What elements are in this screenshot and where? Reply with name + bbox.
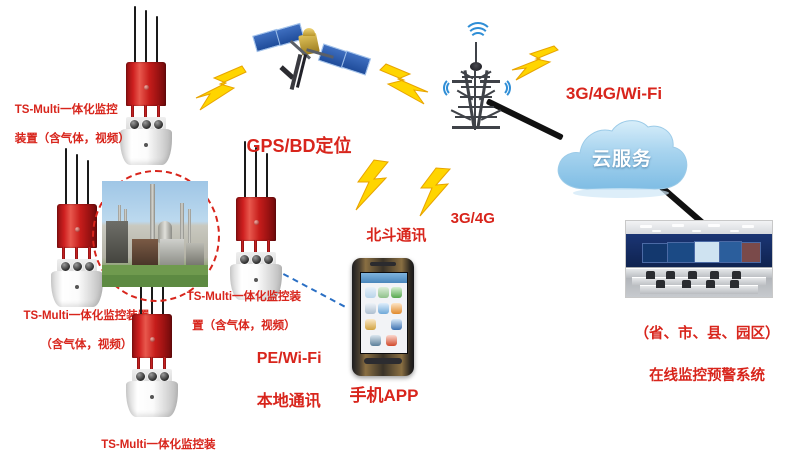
link-label-gps-bd: GPS/BD定位 [224, 112, 354, 180]
diagram-canvas: TS-Multi一体化监控 装置（含气体，视频） TS-Multi一体化监控装置… [0, 0, 797, 464]
device-cone-base [126, 381, 178, 417]
antenna-icon [134, 6, 136, 64]
app-icon[interactable] [378, 319, 389, 330]
antenna-icon [65, 148, 67, 206]
device-speaker [370, 262, 396, 266]
app-icon[interactable] [365, 303, 376, 314]
app-icon[interactable] [365, 319, 376, 330]
control-room-photo [625, 220, 773, 298]
device-body [132, 314, 172, 358]
device-body [236, 197, 276, 241]
handheld-screen[interactable] [360, 272, 408, 354]
device-indicator-dot [144, 143, 148, 147]
device-bottom-label: TS-Multi一体化监控装 置（含气体，视频） [72, 424, 232, 464]
link-label-pe-wifi: PE/Wi-Fi 本地通讯 [239, 326, 329, 434]
lightning-icon-satellite-tower [376, 62, 434, 106]
cell-tower-icon [440, 18, 512, 136]
device-indicator-dot [150, 395, 154, 399]
satellite-icon [248, 12, 382, 108]
app-icon[interactable] [365, 287, 376, 298]
antenna-icon [87, 160, 89, 206]
rugged-handheld-icon[interactable] [352, 258, 414, 376]
app-icon[interactable] [378, 287, 389, 298]
app-icon[interactable] [391, 319, 402, 330]
phone-app-label: 手机APP [346, 385, 422, 406]
signal-wave-icon [463, 22, 493, 52]
app-icon[interactable] [391, 287, 402, 298]
antenna-icon [76, 154, 78, 206]
link-label-3g4g: 3G/4G [434, 191, 498, 247]
lightning-icon-gps [186, 64, 248, 112]
app-icon[interactable] [391, 303, 402, 314]
device-body [57, 204, 97, 248]
app-title-bar [361, 273, 407, 283]
device-indicator-dot [75, 285, 79, 289]
app-icon[interactable] [386, 335, 397, 346]
antenna-icon [156, 16, 158, 64]
cloud-service-label: 云服务 [572, 144, 672, 171]
app-icon[interactable] [370, 335, 381, 346]
chemical-plant-photo [102, 181, 208, 287]
device-bottom-bezel [364, 358, 402, 364]
control-room-label: （省、市、县、园区） 在线监控预警系统 [603, 303, 795, 408]
antenna-icon [145, 10, 147, 64]
link-label-beidou: 北斗通讯 [338, 208, 438, 264]
app-icon[interactable] [378, 303, 389, 314]
